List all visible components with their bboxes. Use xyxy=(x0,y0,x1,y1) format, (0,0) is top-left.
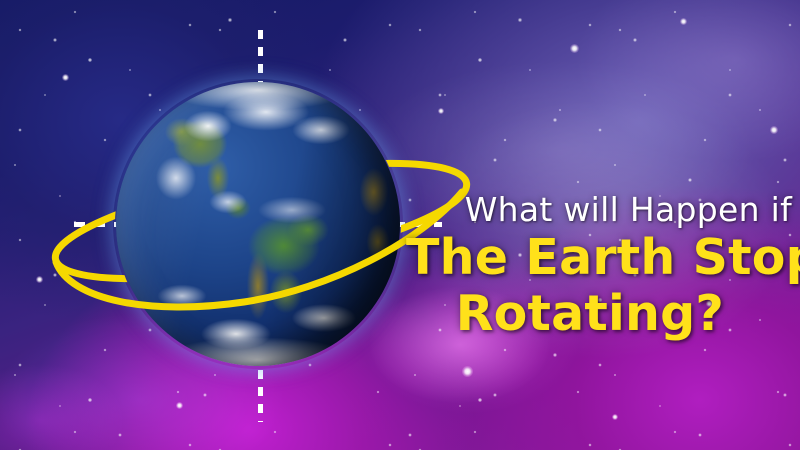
globe-surface xyxy=(116,82,400,366)
headline-block: What will Happen if The Earth Stops Rota… xyxy=(406,190,798,342)
headline-line-1: What will Happen if xyxy=(406,190,798,230)
thumbnail-canvas: What will Happen if The Earth Stops Rota… xyxy=(0,0,800,450)
headline-line-3: Rotating? xyxy=(406,286,798,342)
headline-line-2: The Earth Stops xyxy=(406,230,798,286)
earth-globe xyxy=(116,82,400,366)
